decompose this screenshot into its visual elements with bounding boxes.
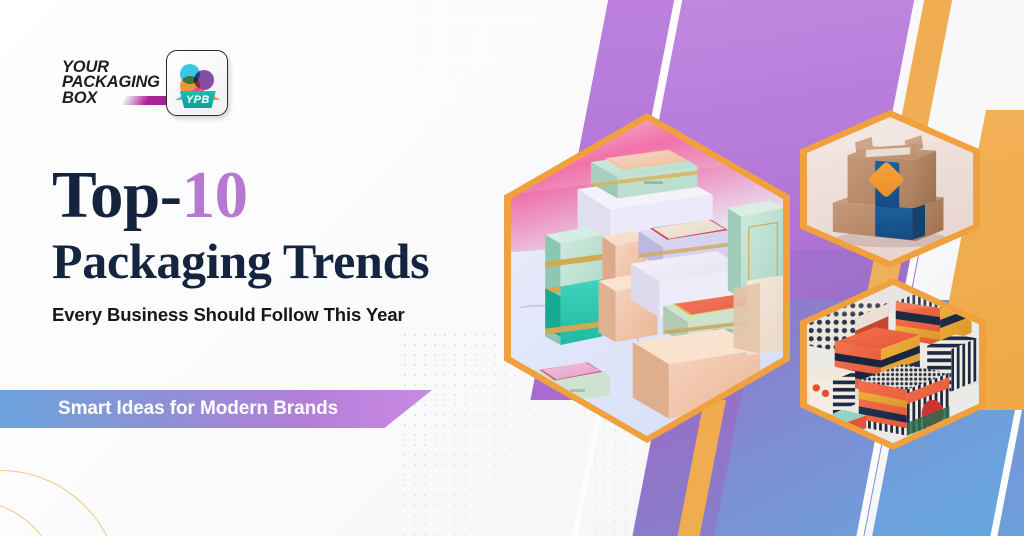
headline-tagline: Every Business Should Follow This Year	[52, 304, 482, 326]
hexagon-image-frame	[807, 285, 979, 443]
headline-line-1: Top-10	[52, 160, 482, 230]
hexagon-image-frame	[807, 117, 973, 261]
headline-block: Top-10 Packaging Trends Every Business S…	[52, 160, 482, 326]
brand-logo-wordmark: YOUR PACKAGING BOX	[62, 60, 160, 107]
headline-line-2: Packaging Trends	[52, 232, 482, 290]
headline-prefix: Top-	[52, 158, 182, 232]
ribbon-label: Smart Ideas for Modern Brands	[58, 398, 338, 420]
patterned-gift-boxes-image	[807, 285, 979, 443]
ribbon-banner: Smart Ideas for Modern Brands	[0, 390, 432, 428]
brand-logo[interactable]: YOUR PACKAGING BOX YPB	[62, 50, 228, 116]
circle-purple-icon	[194, 70, 214, 90]
headline-number: 10	[182, 158, 248, 232]
dot-pattern-top	[415, 0, 585, 120]
logo-badge: YPB	[180, 91, 216, 108]
packaging-box-card-icon: YPB	[166, 50, 228, 116]
kraft-handle-boxes-image	[807, 117, 973, 261]
promo-banner: YOUR PACKAGING BOX YPB Top-10 Packaging …	[0, 0, 1024, 536]
